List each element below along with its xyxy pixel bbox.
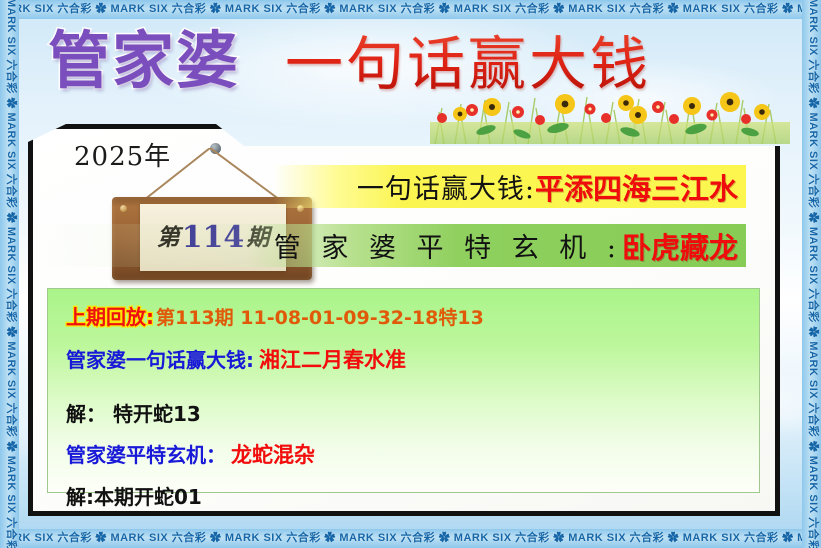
prev-phrase-value: 湘江二月春水准: [254, 344, 406, 374]
border-top-text: MARK SIX 六合彩 ✿ MARK SIX 六合彩 ✿ MARK SIX 六…: [0, 0, 821, 19]
border-right-text: MARK SIX 六合彩 ✿ MARK SIX 六合彩 ✿ MARK SIX 六…: [803, 0, 821, 548]
border-right: MARK SIX 六合彩 ✿ MARK SIX 六合彩 ✿ MARK SIX 六…: [802, 0, 821, 548]
border-left: MARK SIX 六合彩 ✿ MARK SIX 六合彩 ✿ MARK SIX 六…: [0, 0, 19, 548]
prev-phrase-label: 管家婆一句话赢大钱:: [66, 344, 254, 373]
page-root: 管家婆 一句话赢大钱 2025年 第114期 一句话赢大钱: 平添四海三江水 管…: [0, 0, 821, 548]
replay-row: 上期回放: 第113期 11-08-01-09-32-18特13: [66, 301, 741, 330]
prev-secret-label: 管家婆平特玄机：: [66, 439, 226, 468]
prev-secret-value: 龙蛇混杂: [226, 439, 315, 469]
banner-secret: 管 家 婆 平 特 玄 机 : 卧虎藏龙: [30, 224, 746, 267]
answer-row-2: 解:本期开蛇01: [66, 481, 741, 510]
prev-phrase-row: 管家婆一句话赢大钱: 湘江二月春水准: [66, 344, 741, 374]
brand-title: 管家婆: [48, 30, 240, 92]
banner-secret-label: 管 家 婆 平 特 玄 机 :: [274, 226, 622, 265]
answer-row-1: 解： 特开蛇13: [66, 398, 741, 427]
answer-text-2: 解:本期开蛇01: [66, 481, 202, 510]
answer-text-1: 解： 特开蛇13: [66, 398, 201, 427]
content-box: 上期回放: 第113期 11-08-01-09-32-18特13 管家婆一句话赢…: [47, 288, 760, 493]
page-title: 一句话赢大钱: [285, 33, 651, 95]
banner-phrase-label: 一句话赢大钱:: [357, 167, 535, 206]
border-bottom-text: MARK SIX 六合彩 ✿ MARK SIX 六合彩 ✿ MARK SIX 六…: [0, 529, 821, 548]
prev-secret-row: 管家婆平特玄机： 龙蛇混杂: [66, 439, 741, 469]
banner-secret-value: 卧虎藏龙: [622, 225, 738, 267]
border-bottom: MARK SIX 六合彩 ✿ MARK SIX 六合彩 ✿ MARK SIX 六…: [0, 529, 821, 548]
border-top: MARK SIX 六合彩 ✿ MARK SIX 六合彩 ✿ MARK SIX 六…: [0, 0, 821, 19]
border-left-text: MARK SIX 六合彩 ✿ MARK SIX 六合彩 ✿ MARK SIX 六…: [1, 0, 20, 548]
banner-phrase: 一句话赢大钱: 平添四海三江水: [30, 165, 746, 208]
banner-phrase-value: 平添四海三江水: [535, 166, 738, 208]
replay-value: 第113期 11-08-01-09-32-18特13: [154, 303, 484, 330]
replay-label: 上期回放:: [66, 301, 154, 330]
